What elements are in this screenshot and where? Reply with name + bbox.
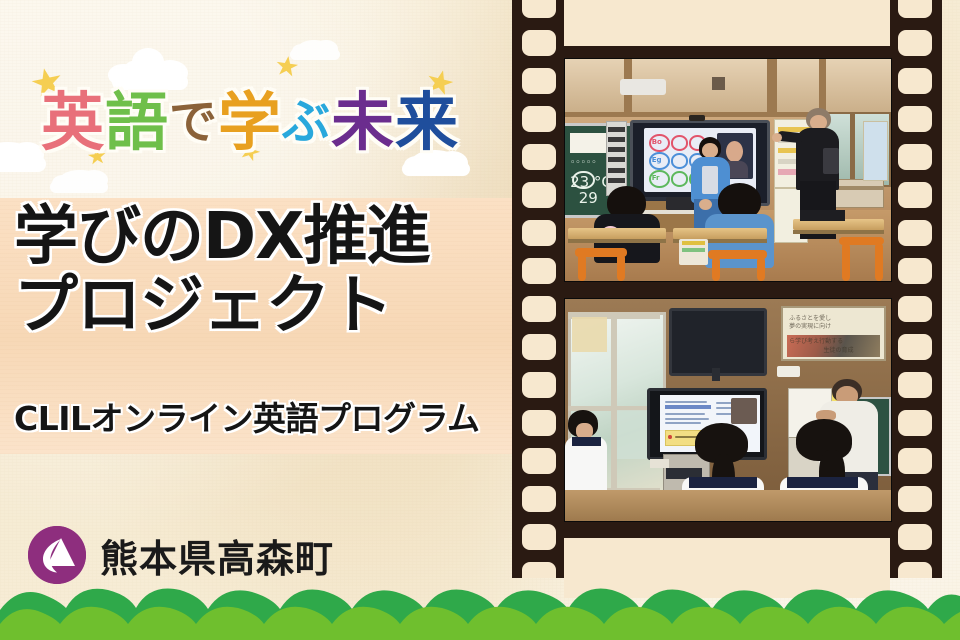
banner-line-2: 夢の実現に向け	[789, 321, 831, 325]
screen-badge-1: Bo	[652, 138, 662, 146]
main-title-line-2: プロジェクト	[14, 275, 506, 338]
classroom-banner: ふるさとを愛し 夢の実現に向け ら学び考え行動する 生徒の育成	[781, 306, 886, 361]
headline-char-1: 英	[41, 72, 105, 163]
film-frame-top-partial	[564, 0, 890, 46]
page-subtitle: CLILオンライン英語プログラム	[14, 392, 506, 440]
banner-line-4: 生徒の育成	[823, 345, 853, 349]
chalkboard-temp-text-2: 29	[579, 189, 598, 207]
green-hills-decoration	[0, 578, 960, 640]
headline-char-3: で	[169, 82, 218, 152]
town-name-label: 熊本県高森町	[100, 528, 334, 583]
wall-mounted-display	[669, 308, 766, 376]
film-frame-photo-juniorhigh: ふるさとを愛し 夢の実現に向け ら学び考え行動する 生徒の育成	[564, 298, 892, 522]
banner-line-1: ふるさとを愛し	[789, 313, 831, 317]
screen-badge-2: Eg	[652, 156, 662, 164]
page-title: 学びのDX推進 プロジェクト	[14, 206, 506, 339]
main-title-line-1: 学びのDX推進	[14, 206, 506, 269]
headline-char-2: 語	[105, 72, 169, 163]
headline-char-6: 未	[331, 72, 395, 163]
photo-elementary-classroom: ◦◦◦◦◦ 23 °C 29	[565, 59, 891, 281]
headline-char-7: 来	[395, 72, 459, 163]
headline-decorative-title: 英 語 で 学 ぶ 未 来	[0, 52, 500, 182]
film-strip: ◦◦◦◦◦ 23 °C 29	[512, 0, 942, 578]
screen-badge-3: Fr	[652, 174, 660, 182]
takamori-town-logo-icon	[28, 526, 86, 584]
film-perforations-right	[892, 0, 938, 578]
photo-juniorhigh-classroom: ふるさとを愛し 夢の実現に向け ら学び考え行動する 生徒の育成	[565, 299, 891, 521]
town-branding: 熊本県高森町	[28, 526, 334, 584]
headline-char-5: ぶ	[282, 82, 331, 152]
headline-char-4: 学	[218, 72, 282, 163]
banner-line-3: ら学び考え行動する	[789, 336, 843, 340]
film-perforations-left	[516, 0, 562, 578]
poster-canvas: 英 語 で 学 ぶ 未 来 学びのDX推進 プロジェクト CLILオンライン英語…	[0, 0, 960, 640]
film-frame-photo-elementary: ◦◦◦◦◦ 23 °C 29	[564, 58, 892, 282]
